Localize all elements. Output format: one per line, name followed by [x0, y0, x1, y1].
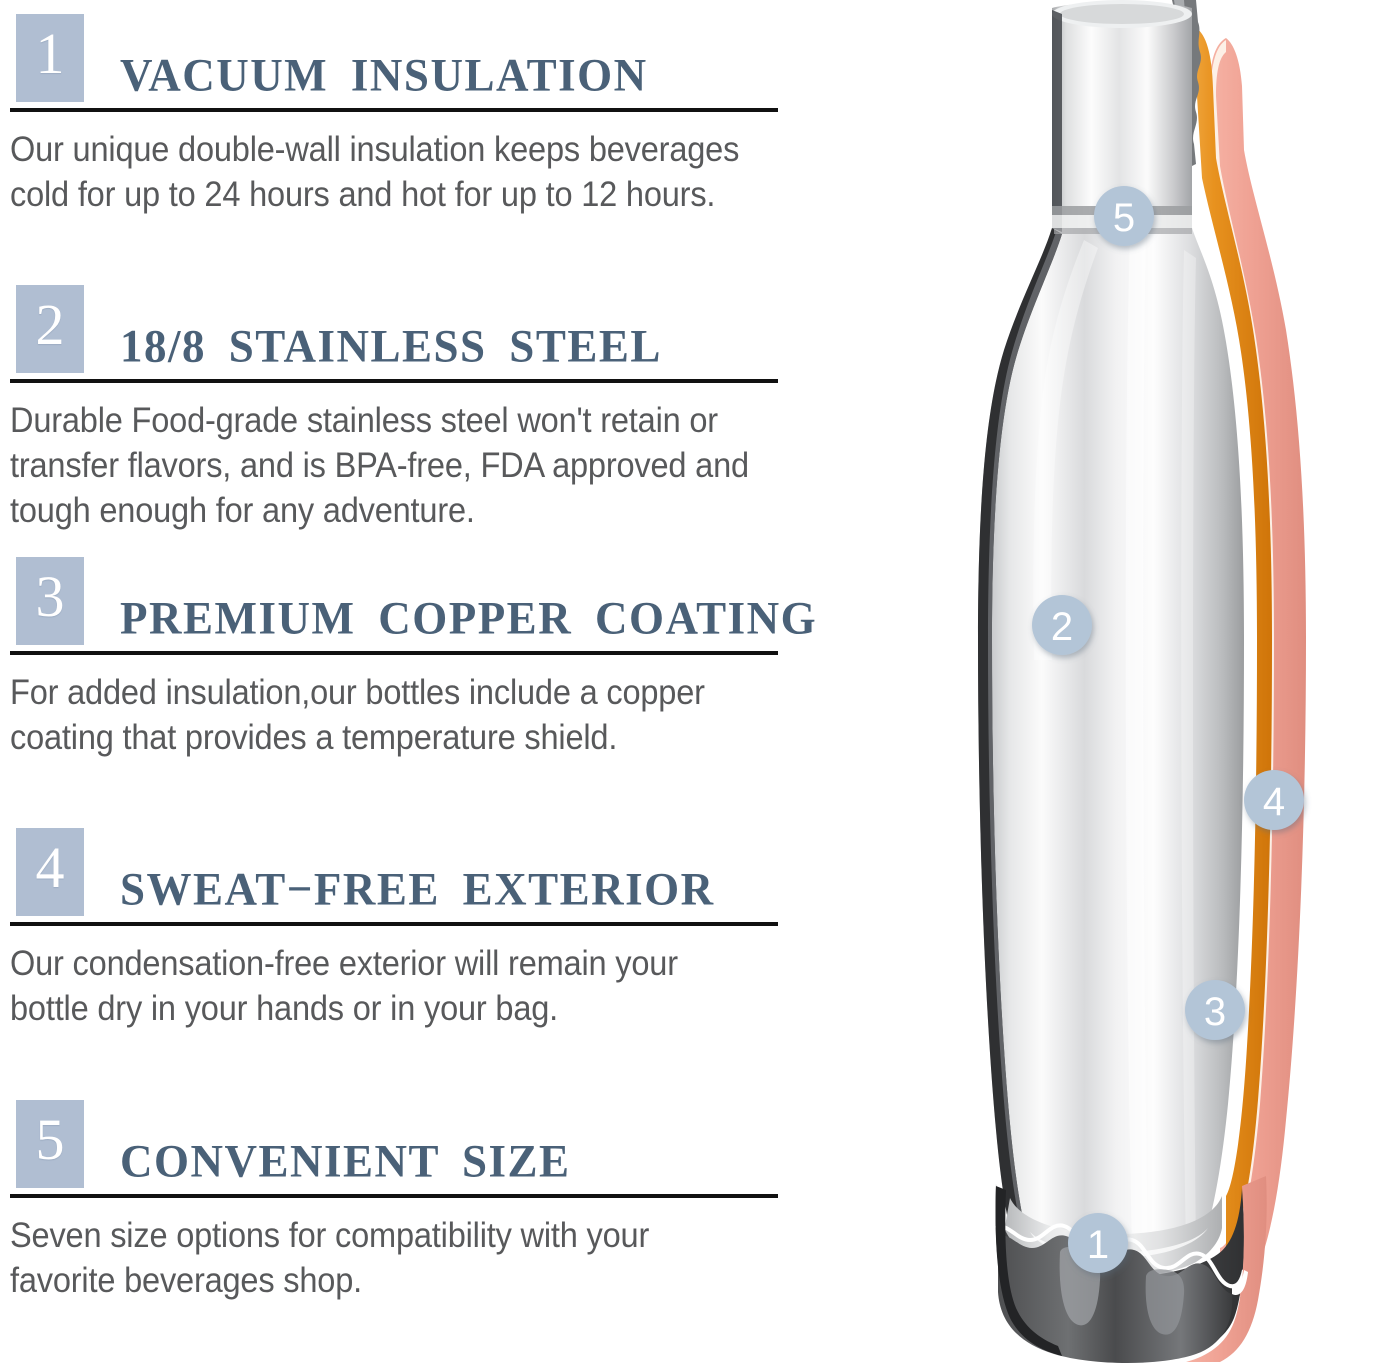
neck-left-outline — [1052, 10, 1062, 232]
feature-number-5: 5 — [36, 1111, 65, 1169]
feature-title-3: PREMIUM COPPER COATING — [120, 591, 817, 645]
feature-divider-4 — [10, 922, 778, 926]
feature-title-2: 18/8 STAINLESS STEEL — [120, 319, 662, 373]
feature-title-5: CONVENIENT SIZE — [120, 1134, 571, 1188]
callout-badge-2-label: 2 — [1051, 605, 1073, 649]
feature-block-1: 1 VACUUM INSULATION Our unique double-wa… — [10, 14, 870, 218]
callout-badge-1[interactable]: 1 — [1068, 1213, 1128, 1273]
feature-header: 1 VACUUM INSULATION — [10, 14, 870, 106]
feature-block-3: 3 PREMIUM COPPER COATING For added insul… — [10, 557, 870, 761]
feature-number-badge-5: 5 — [16, 1100, 84, 1188]
callout-badge-1-label: 1 — [1087, 1223, 1109, 1267]
feature-number-badge-3: 3 — [16, 557, 84, 645]
feature-body-1: Our unique double-wall insulation keeps … — [10, 128, 754, 218]
feature-body-2: Durable Food-grade stainless steel won't… — [10, 399, 754, 533]
callout-badge-5-label: 5 — [1113, 196, 1135, 240]
feature-header: 3 PREMIUM COPPER COATING — [10, 557, 870, 649]
feature-number-3: 3 — [36, 568, 65, 626]
callout-badge-3[interactable]: 3 — [1185, 980, 1245, 1040]
callout-badge-4-label: 4 — [1263, 780, 1285, 824]
feature-title-1: VACUUM INSULATION — [120, 48, 648, 102]
callout-badge-5[interactable]: 5 — [1094, 186, 1154, 246]
feature-number-badge-2: 2 — [16, 285, 84, 373]
feature-number-2: 2 — [36, 296, 65, 354]
stainless-steel-body — [978, 228, 1244, 1258]
feature-list: 1 VACUUM INSULATION Our unique double-wa… — [0, 0, 900, 1370]
feature-header: 4 SWEAT−FREE EXTERIOR — [10, 828, 870, 920]
feature-body-5: Seven size options for compatibility wit… — [10, 1214, 754, 1304]
feature-number-badge-1: 1 — [16, 14, 84, 102]
feature-block-5: 5 CONVENIENT SIZE Seven size options for… — [10, 1100, 870, 1304]
bottle-cutaway-diagram: 5 2 4 3 1 — [934, 0, 1374, 1370]
feature-divider-5 — [10, 1194, 778, 1198]
feature-number-badge-4: 4 — [16, 828, 84, 916]
feature-divider-3 — [10, 651, 778, 655]
feature-block-4: 4 SWEAT−FREE EXTERIOR Our condensation-f… — [10, 828, 870, 1032]
feature-block-2: 2 18/8 STAINLESS STEEL Durable Food-grad… — [10, 285, 870, 533]
feature-title-4: SWEAT−FREE EXTERIOR — [120, 862, 715, 916]
feature-number-4: 4 — [36, 839, 65, 897]
feature-body-3: For added insulation,our bottles include… — [10, 671, 754, 761]
feature-header: 5 CONVENIENT SIZE — [10, 1100, 870, 1192]
feature-header: 2 18/8 STAINLESS STEEL — [10, 285, 870, 377]
bottle-neck-rim-inner — [1060, 4, 1184, 24]
callout-badge-4[interactable]: 4 — [1244, 770, 1304, 830]
feature-divider-1 — [10, 108, 778, 112]
callout-badge-3-label: 3 — [1204, 990, 1226, 1034]
callout-badge-2[interactable]: 2 — [1032, 595, 1092, 655]
feature-body-4: Our condensation-free exterior will rema… — [10, 942, 754, 1032]
feature-divider-2 — [10, 379, 778, 383]
feature-number-1: 1 — [36, 25, 65, 83]
